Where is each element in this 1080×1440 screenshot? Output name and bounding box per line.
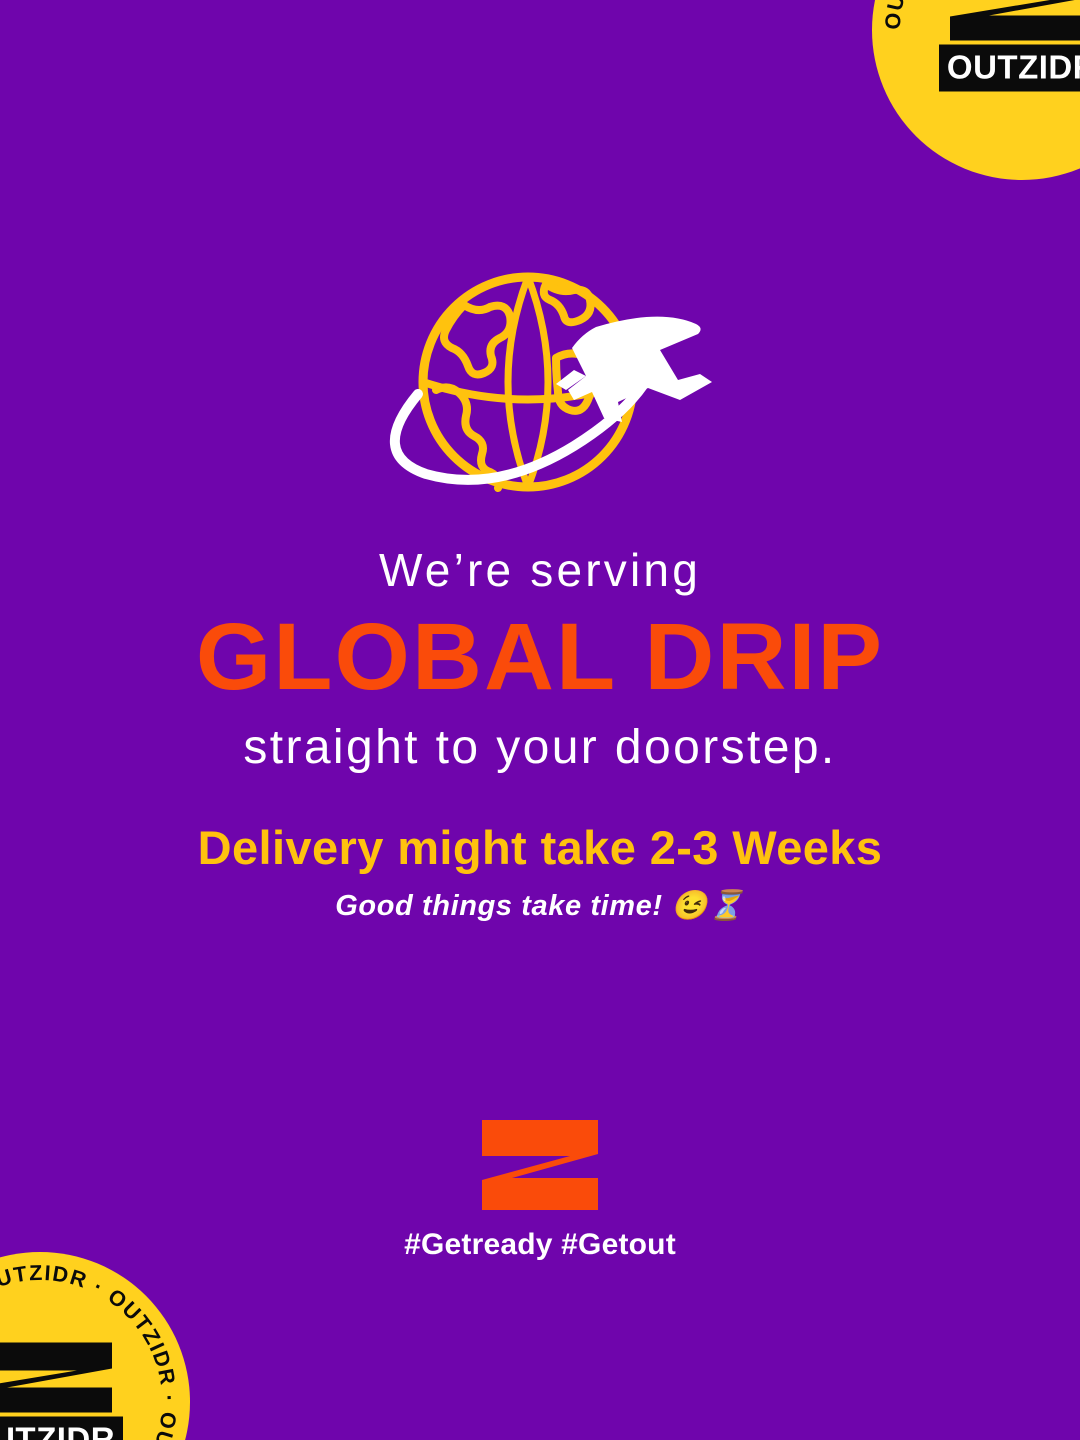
headline-line-global-drip: GLOBAL DRIP	[0, 606, 1080, 709]
footer-block: #Getready #Getout	[0, 1118, 1080, 1261]
outzidr-badge-top-right: OUTZIDR · OUTZIDR · OUTZIDR · OUTZIDR · …	[872, 0, 1080, 180]
delivery-subtext: Good things take time! 😉⏳	[0, 889, 1080, 924]
badge-center-word-bottom-left: OUTZIDR	[0, 1417, 123, 1440]
promo-poster: We’re serving GLOBAL DRIP straight to yo…	[0, 0, 1080, 1440]
headline-line-serving: We’re serving	[0, 545, 1080, 596]
delivery-time-text: Delivery might take 2-3 Weeks	[0, 822, 1080, 875]
globe-airplane-illustration	[0, 272, 1080, 502]
delivery-note-block: Delivery might take 2-3 Weeks Good thing…	[0, 822, 1080, 923]
headline-line-doorstep: straight to your doorstep.	[0, 722, 1080, 775]
outzidr-z-logo-icon-bottom-left	[0, 1341, 115, 1415]
badge-core-top-right: OUTZIDR	[926, 0, 1080, 92]
outzidr-badge-bottom-left: OUTZIDR · OUTZIDR · OUTZIDR · OUTZIDR · …	[0, 1252, 190, 1440]
headline-block: We’re serving GLOBAL DRIP straight to yo…	[0, 545, 1080, 775]
hashtags-text: #Getready #Getout	[404, 1228, 676, 1261]
outzidr-z-logo-icon-top-right	[947, 0, 1080, 43]
outzidr-z-logo-icon	[478, 1118, 602, 1212]
badge-core-bottom-left: OUTZIDR	[0, 1341, 136, 1440]
badge-center-word-top-right: OUTZIDR	[939, 45, 1080, 92]
